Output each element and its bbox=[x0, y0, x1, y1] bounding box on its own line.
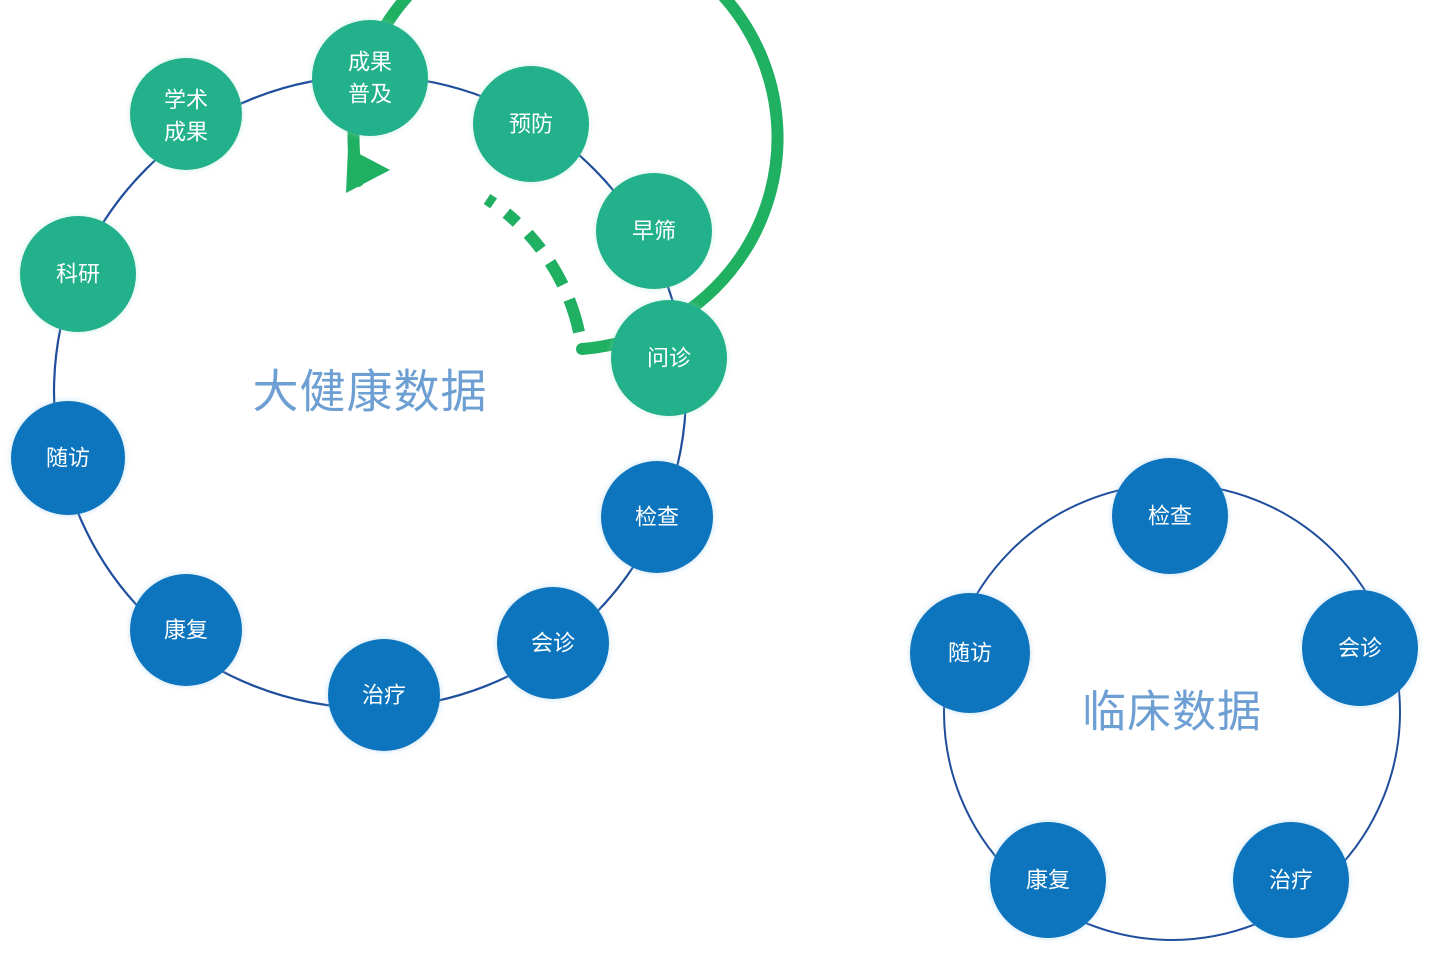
node-label-line-1: 成果 bbox=[348, 50, 392, 75]
node-label: 问诊 bbox=[647, 346, 691, 371]
node-kangfu[interactable]: 康复 bbox=[130, 574, 242, 686]
node-label: 治疗 bbox=[1269, 868, 1313, 893]
node-suifang[interactable]: 随访 bbox=[11, 401, 125, 515]
node-label: 康复 bbox=[164, 618, 208, 643]
node-wenzhen[interactable]: 问诊 bbox=[611, 300, 727, 416]
center-label-big-health-data: 大健康数据 bbox=[253, 367, 488, 418]
node-label: 科研 bbox=[56, 262, 100, 287]
cycle-arrow-dashed-arc bbox=[487, 199, 582, 349]
node-label-line-1: 学术 bbox=[164, 88, 208, 113]
node-label: 预防 bbox=[509, 112, 553, 137]
diagram-big-health-data: 大健康数据 成果 普及 预防 早筛 问诊 检查 bbox=[11, 0, 778, 751]
node-xueshuchengguo[interactable]: 学术 成果 bbox=[130, 58, 242, 170]
clinical-node-huizhen[interactable]: 会诊 bbox=[1302, 590, 1418, 706]
clinical-node-kangfu[interactable]: 康复 bbox=[990, 822, 1106, 938]
node-label: 康复 bbox=[1026, 868, 1070, 893]
center-label-clinical-data: 临床数据 bbox=[1082, 688, 1262, 737]
node-label: 早筛 bbox=[632, 219, 676, 244]
node-chengguopuji[interactable]: 成果 普及 bbox=[312, 20, 428, 136]
diagram-svg: 大健康数据 成果 普及 预防 早筛 问诊 检查 bbox=[0, 0, 1430, 964]
node-label: 检查 bbox=[1148, 504, 1192, 529]
node-label: 治疗 bbox=[362, 683, 406, 708]
node-label: 会诊 bbox=[1338, 636, 1382, 661]
node-circle[interactable] bbox=[312, 20, 428, 136]
node-zhiliao[interactable]: 治疗 bbox=[328, 639, 440, 751]
clinical-node-zhiliao[interactable]: 治疗 bbox=[1233, 822, 1349, 938]
node-label: 随访 bbox=[46, 446, 90, 471]
clinical-node-suifang[interactable]: 随访 bbox=[910, 593, 1030, 713]
node-label-line-2: 成果 bbox=[164, 120, 208, 145]
node-label-line-2: 普及 bbox=[348, 82, 392, 107]
diagram-clinical-data: 临床数据 检查 会诊 治疗 康复 随访 bbox=[910, 458, 1418, 940]
node-jiancha[interactable]: 检查 bbox=[601, 461, 713, 573]
node-huizhen[interactable]: 会诊 bbox=[497, 587, 609, 699]
diagram-canvas: 大健康数据 成果 普及 预防 早筛 问诊 检查 bbox=[0, 0, 1430, 964]
node-label: 会诊 bbox=[531, 631, 575, 656]
node-keyan[interactable]: 科研 bbox=[20, 216, 136, 332]
node-yufang[interactable]: 预防 bbox=[473, 66, 589, 182]
node-label: 随访 bbox=[948, 641, 992, 666]
cycle-arrow-head bbox=[346, 148, 390, 193]
node-zaoshai[interactable]: 早筛 bbox=[596, 173, 712, 289]
node-label: 检查 bbox=[635, 505, 679, 530]
node-circle[interactable] bbox=[130, 58, 242, 170]
clinical-node-jiancha[interactable]: 检查 bbox=[1112, 458, 1228, 574]
